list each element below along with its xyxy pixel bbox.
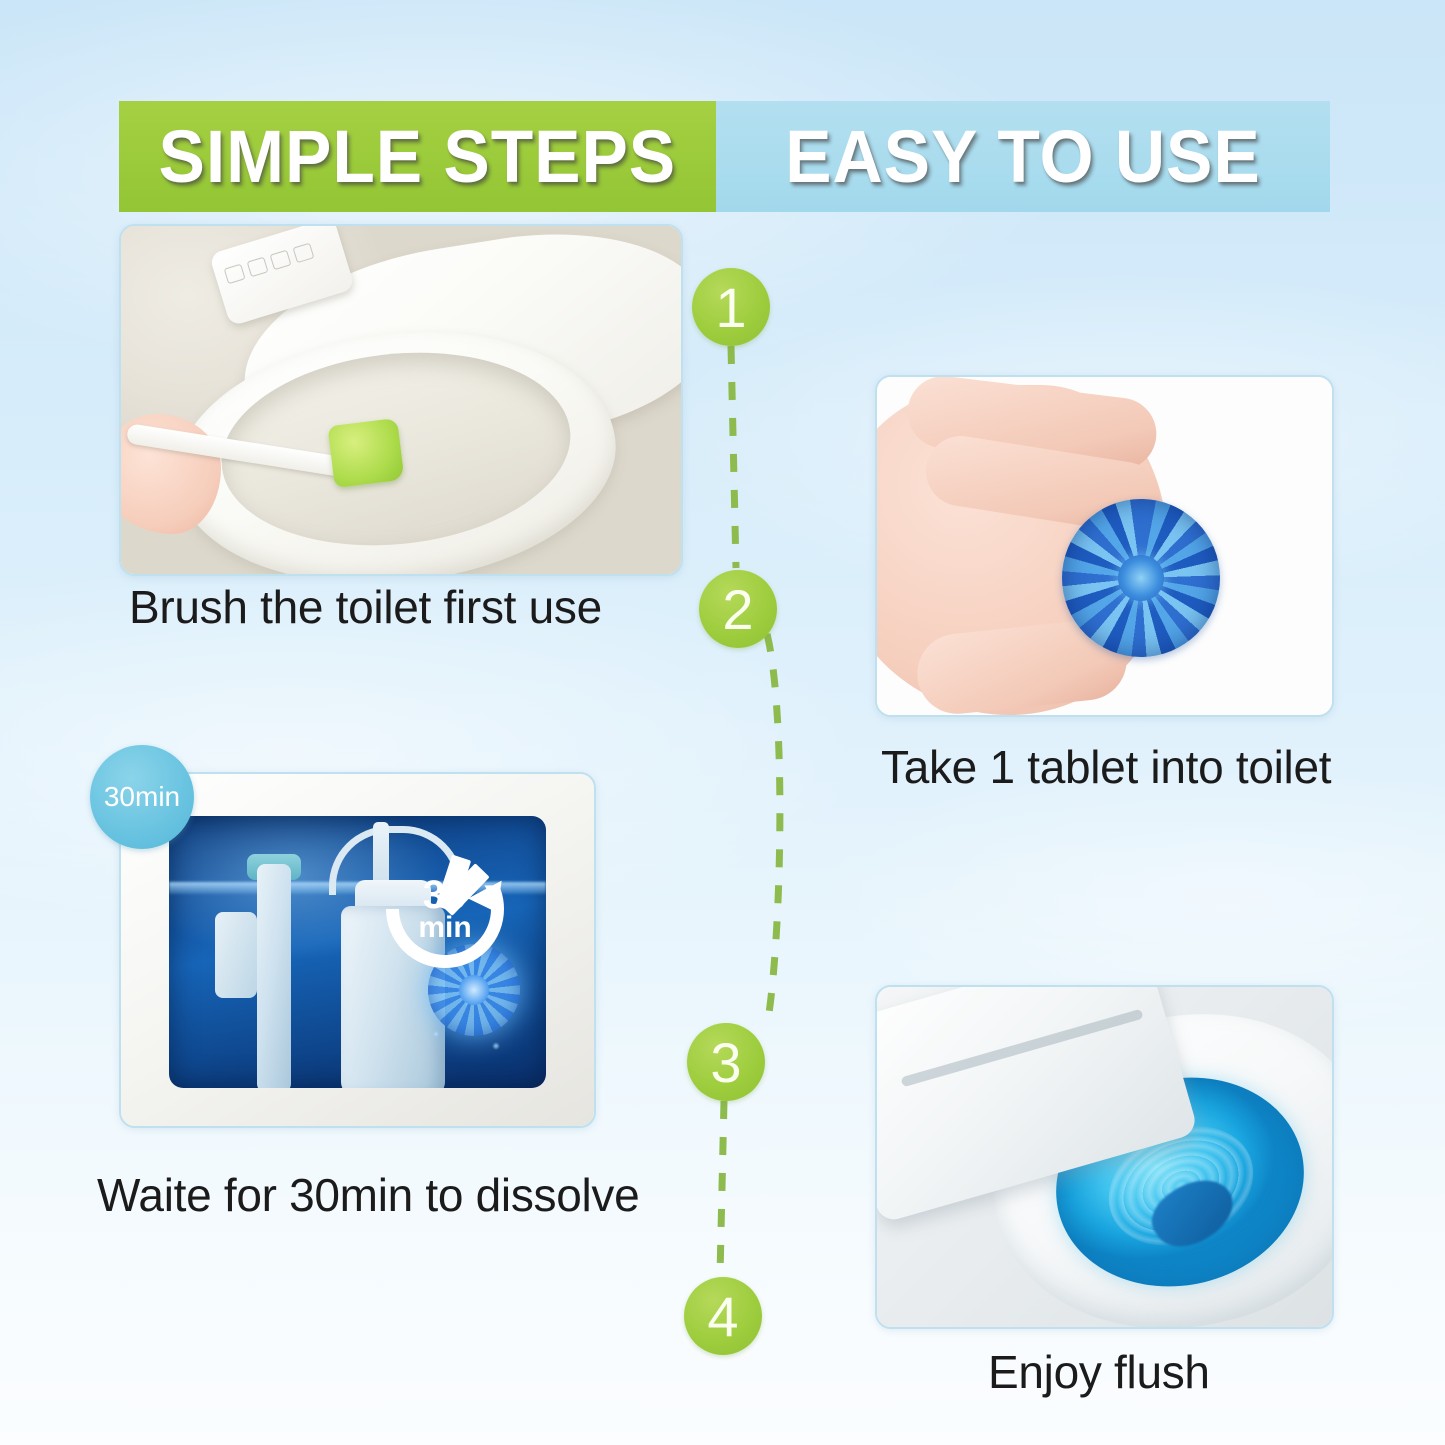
photo-card-dissolve: 30 min <box>119 772 596 1128</box>
connector-3-to-4 <box>720 1101 724 1275</box>
photo-card-brush-toilet <box>119 224 683 576</box>
step-1-label: 1 <box>715 275 746 340</box>
blue-cleaning-tablet-shape <box>1062 499 1220 657</box>
caption-brush-toilet: Brush the toilet first use <box>129 580 602 634</box>
header-title-easy-to-use: EASY TO USE <box>785 114 1261 199</box>
photo-take-tablet <box>877 377 1332 715</box>
connector-1-to-2 <box>731 346 736 568</box>
caption-dissolve: Waite for 30min to dissolve <box>97 1168 639 1222</box>
timer-unit: min <box>418 914 471 942</box>
step-4-label: 4 <box>707 1284 738 1349</box>
header-banner-blue-section: EASY TO USE <box>716 101 1330 212</box>
step-number-2[interactable]: 2 <box>699 570 777 648</box>
badge-30min: 30min <box>90 745 194 849</box>
connector-2-to-3 <box>767 634 780 1020</box>
header-banner: SIMPLE STEPS EASY TO USE <box>119 101 1330 212</box>
header-title-simple-steps: SIMPLE STEPS <box>159 114 677 199</box>
timer-label: 30 min <box>386 850 504 968</box>
photo-enjoy-flush <box>877 987 1332 1327</box>
caption-enjoy-flush: Enjoy flush <box>988 1345 1210 1399</box>
caption-take-tablet: Take 1 tablet into toilet <box>881 740 1331 794</box>
step-2-label: 2 <box>722 577 753 642</box>
photo-cistern-interior: 30 min <box>121 774 594 1126</box>
photo-brush-toilet <box>121 226 681 574</box>
step-number-3[interactable]: 3 <box>687 1023 765 1101</box>
float-housing-shape <box>215 912 257 998</box>
photo-card-enjoy-flush <box>875 985 1334 1329</box>
step-number-1[interactable]: 1 <box>692 268 770 346</box>
header-banner-green-section: SIMPLE STEPS <box>119 101 716 212</box>
step-3-label: 3 <box>710 1030 741 1095</box>
cistern-water-view: 30 min <box>169 816 546 1088</box>
fill-valve-shape <box>257 864 291 1088</box>
photo-card-take-tablet <box>875 375 1334 717</box>
timer-30min-icon: 30 min <box>386 850 504 968</box>
step-number-4[interactable]: 4 <box>684 1277 762 1355</box>
infographic-page: SIMPLE STEPS EASY TO USE 1 2 3 4 <box>0 0 1445 1445</box>
timer-value: 30 <box>423 877 468 914</box>
badge-30min-label: 30min <box>104 781 180 813</box>
green-brush-head-shape <box>327 418 404 488</box>
